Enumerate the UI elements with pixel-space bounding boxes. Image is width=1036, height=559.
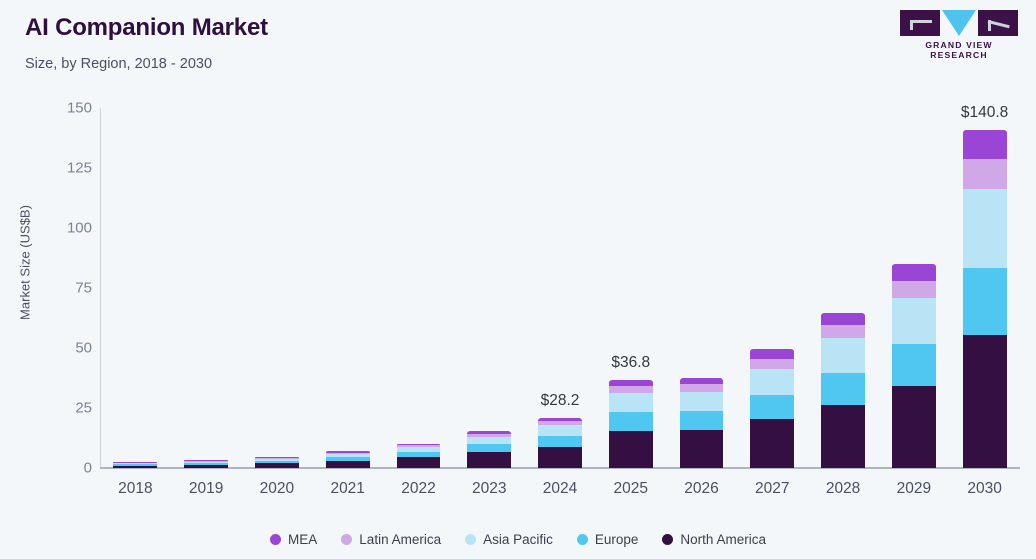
bar-segment-latin-america[interactable] [609,386,653,393]
bar-group[interactable] [892,108,936,468]
bar-value-label: $140.8 [961,104,1008,122]
stacked-bar[interactable] [113,463,157,468]
legend-item[interactable]: MEA [270,532,317,547]
bar-group[interactable] [184,108,228,468]
bar-segment-asia-pacific[interactable] [255,459,299,461]
bar-segment-asia-pacific[interactable] [184,462,228,463]
bar-segment-europe[interactable] [184,463,228,465]
x-axis-tick-label: 2021 [330,480,364,498]
legend-swatch-icon [577,534,588,545]
bar-segment-latin-america[interactable] [892,281,936,299]
x-axis-tick-label: 2030 [967,480,1001,498]
bar-value-label: $36.8 [611,354,650,372]
bar-segment-asia-pacific[interactable] [609,393,653,412]
bar-segment-north-america[interactable] [467,452,511,468]
x-axis-tick-label: 2027 [755,480,789,498]
bar-segment-mea[interactable] [255,457,299,458]
legend-item[interactable]: Latin America [341,532,441,547]
bar-segment-mea[interactable] [892,264,936,281]
bar-segment-europe[interactable] [680,411,724,430]
legend-swatch-icon [465,534,476,545]
bar-segment-mea[interactable] [680,378,724,385]
legend-swatch-icon [270,534,281,545]
y-axis-tick-label: 100 [32,220,92,237]
bar-segment-europe[interactable] [963,268,1007,336]
bar-segment-asia-pacific[interactable] [538,425,582,436]
x-axis-tick-label: 2023 [472,480,506,498]
bar-group[interactable] [255,108,299,468]
bar-segment-asia-pacific[interactable] [821,338,865,373]
bar-segment-mea[interactable] [963,130,1007,159]
stacked-bar[interactable] [326,452,370,468]
bar-group[interactable] [680,108,724,468]
bar-group[interactable] [326,108,370,468]
chart-legend: MEALatin AmericaAsia PacificEuropeNorth … [0,526,1036,552]
x-axis-tick-label: 2026 [684,480,718,498]
bar-segment-north-america[interactable] [609,431,653,468]
bar-segment-europe[interactable] [892,344,936,386]
stacked-bar[interactable] [750,349,794,468]
bar-segment-mea[interactable] [184,460,228,461]
stacked-bar[interactable] [821,312,865,468]
bar-segment-asia-pacific[interactable] [397,447,441,452]
stacked-bar[interactable] [184,460,228,468]
stacked-bar[interactable] [680,378,724,468]
bar-segment-asia-pacific[interactable] [326,454,370,457]
bar-segment-latin-america[interactable] [326,453,370,454]
bar-group[interactable] [750,108,794,468]
bar-segment-mea[interactable] [609,380,653,387]
bar-segment-latin-america[interactable] [467,434,511,437]
bar-segment-latin-america[interactable] [963,159,1007,189]
bar-segment-north-america[interactable] [963,335,1007,468]
y-axis-tick-label: 75 [32,280,92,297]
bar-segment-north-america[interactable] [397,457,441,468]
bar-segment-latin-america[interactable] [397,445,441,447]
bar-segment-latin-america[interactable] [538,421,582,425]
bar-segment-north-america[interactable] [326,461,370,468]
x-axis-tick-label: 2025 [614,480,648,498]
bar-group[interactable]: $140.8 [963,108,1007,468]
bar-segment-mea[interactable] [113,462,157,463]
bar-segment-europe[interactable] [467,444,511,452]
bar-segment-europe[interactable] [750,395,794,420]
bar-segment-asia-pacific[interactable] [680,392,724,411]
bar-segment-latin-america[interactable] [821,325,865,338]
bar-group[interactable] [397,108,441,468]
bar-segment-europe[interactable] [255,461,299,463]
y-axis-ticks: 0255075100125150 [22,0,92,559]
stacked-bar[interactable] [397,444,441,468]
bar-segment-latin-america[interactable] [680,384,724,391]
stacked-bar[interactable] [255,457,299,468]
y-axis-tick-label: 0 [32,460,92,477]
legend-label: Asia Pacific [483,532,553,547]
bar-segment-north-america[interactable] [892,386,936,468]
bar-segment-mea[interactable] [821,313,865,325]
bar-segment-asia-pacific[interactable] [892,298,936,344]
bar-segment-mea[interactable] [326,451,370,452]
legend-item[interactable]: Europe [577,532,639,547]
bar-segment-north-america[interactable] [255,463,299,468]
bar-group[interactable] [113,108,157,468]
legend-label: Latin America [359,532,441,547]
y-axis-tick-label: 125 [32,160,92,177]
bar-group[interactable]: $36.8 [609,108,653,468]
bar-series-container: $28.2$36.8$140.8 [100,108,1020,468]
bar-segment-mea[interactable] [397,444,441,446]
bar-segment-europe[interactable] [609,412,653,431]
legend-swatch-icon [341,534,352,545]
bar-segment-asia-pacific[interactable] [467,437,511,445]
bar-group[interactable] [821,108,865,468]
x-axis-tick-label: 2018 [118,480,152,498]
x-axis-tick-label: 2028 [826,480,860,498]
bar-segment-europe[interactable] [538,436,582,447]
bar-segment-europe[interactable] [397,452,441,457]
x-axis-tick-label: 2019 [189,480,223,498]
legend-label: Europe [595,532,639,547]
legend-label: North America [680,532,766,547]
bar-segment-europe[interactable] [326,457,370,461]
legend-item[interactable]: Asia Pacific [465,532,553,547]
stacked-bar[interactable] [892,264,936,468]
legend-item[interactable]: North America [662,532,766,547]
bar-segment-mea[interactable] [538,418,582,422]
bar-segment-latin-america[interactable] [750,359,794,369]
bar-segment-north-america[interactable] [113,466,157,468]
x-axis-tick-label: 2024 [543,480,577,498]
bar-segment-europe[interactable] [821,373,865,405]
bar-segment-mea[interactable] [467,431,511,434]
x-axis-tick-label: 2020 [260,480,294,498]
chart-page: AI Companion Market Size, by Region, 201… [0,0,1036,559]
bar-segment-mea[interactable] [750,349,794,358]
bar-group[interactable]: $28.2 [538,108,582,468]
bar-segment-asia-pacific[interactable] [963,189,1007,267]
y-axis-tick-label: 25 [32,400,92,417]
bar-group[interactable] [467,108,511,468]
bar-segment-north-america[interactable] [821,405,865,468]
bar-segment-north-america[interactable] [538,447,582,468]
legend-label: MEA [288,532,317,547]
stacked-bar[interactable] [609,380,653,468]
stacked-bar[interactable] [963,130,1007,468]
stacked-bar[interactable] [467,431,511,468]
bar-value-label: $28.2 [541,392,580,410]
bar-segment-north-america[interactable] [184,465,228,468]
bar-segment-europe[interactable] [113,464,157,465]
y-axis-tick-label: 50 [32,340,92,357]
bar-segment-north-america[interactable] [680,430,724,468]
chart-plot-area: Market Size (US$B) 0255075100125150 $28.… [0,0,1036,559]
x-axis-tick-label: 2022 [401,480,435,498]
x-axis-tick-label: 2029 [897,480,931,498]
y-axis-tick-label: 150 [32,100,92,117]
legend-swatch-icon [662,534,673,545]
stacked-bar[interactable] [538,418,582,468]
bar-segment-asia-pacific[interactable] [750,369,794,395]
bar-segment-north-america[interactable] [750,419,794,468]
